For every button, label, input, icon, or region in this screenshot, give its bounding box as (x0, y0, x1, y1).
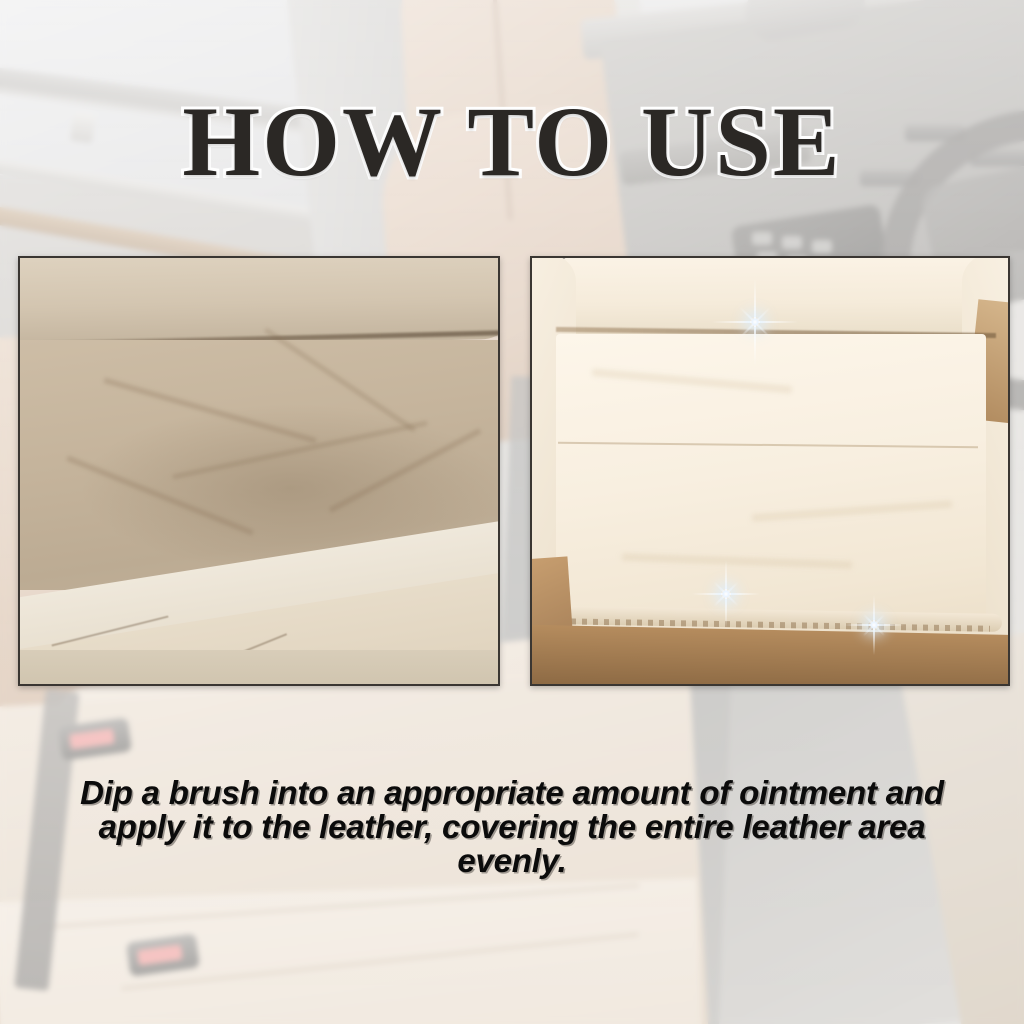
seat-cushion-clean (556, 334, 986, 634)
instruction-caption: Dip a brush into an appropriate amount o… (62, 776, 962, 878)
seat-backrest-clean (560, 256, 1010, 338)
infographic-canvas: HOW TO USE (0, 0, 1024, 1024)
page-title: HOW TO USE (0, 92, 1024, 192)
brush-handle (459, 671, 500, 686)
wood-floor-trim (530, 625, 1010, 686)
photo-panel-after (530, 256, 1010, 686)
photo-panel-before (18, 256, 500, 686)
